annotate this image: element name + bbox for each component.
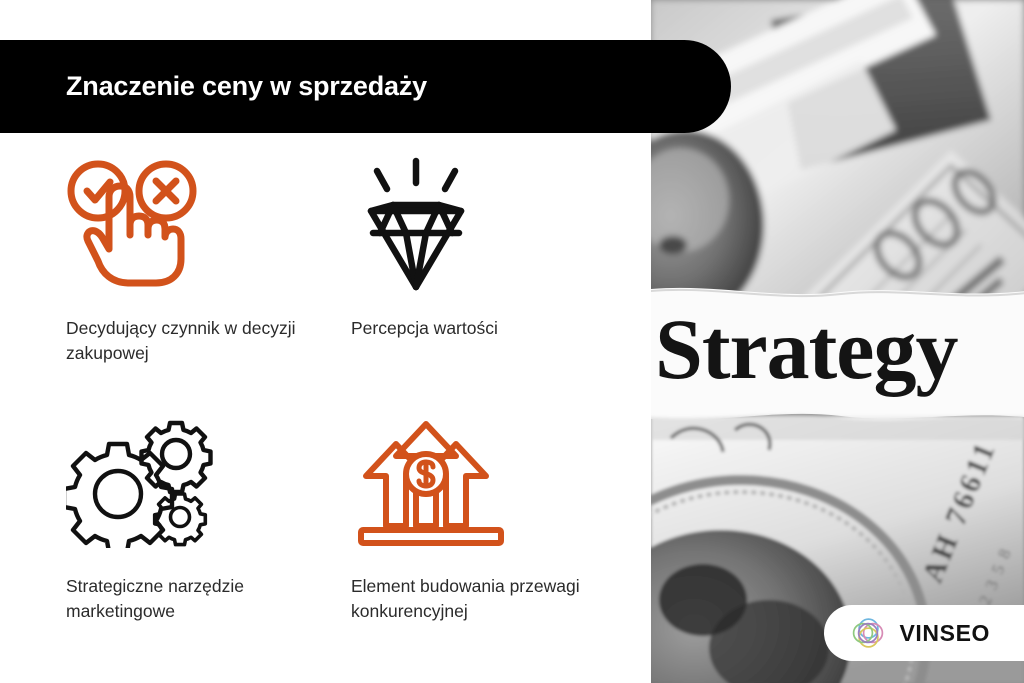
gears-glyph [66,418,216,548]
title-banner: Znaczenie ceny w sprzedaży [0,40,731,133]
diamond-sparkle-glyph [351,155,481,295]
growth-arrows-dollar-glyph [351,416,511,551]
diamond-sparkle-icon [351,150,641,300]
feature-label: Element budowania przewagi konkurencyjne… [351,574,601,625]
feature-label: Strategiczne narzędzie marketingowe [66,574,316,625]
infographic-root: Strategy AH 76611 [0,0,1024,683]
vinseo-rings-icon [850,615,886,651]
vinseo-logo-text: VINSEO [899,620,990,647]
vinseo-logo-badge[interactable]: VINSEO [824,605,1024,661]
svg-text:Strategy: Strategy [655,301,958,397]
feature-item-competitive-advantage: Element budowania przewagi konkurencyjne… [351,408,641,625]
features-grid: Decydujący czynnik w decyzji zakupowej [0,150,651,670]
gears-icon [66,408,356,558]
page-title: Znaczenie ceny w sprzedaży [0,71,427,102]
feature-label: Decydujący czynnik w decyzji zakupowej [66,316,316,367]
feature-item-decision-factor: Decydujący czynnik w decyzji zakupowej [66,150,356,367]
hand-pointer-choice-icon [66,150,356,300]
feature-item-value-perception: Percepcja wartości [351,150,641,341]
feature-label: Percepcja wartości [351,316,601,341]
hand-pointer-choice-glyph [66,155,204,295]
growth-arrows-dollar-icon [351,408,641,558]
feature-item-marketing-tool: Strategiczne narzędzie marketingowe [66,408,356,625]
